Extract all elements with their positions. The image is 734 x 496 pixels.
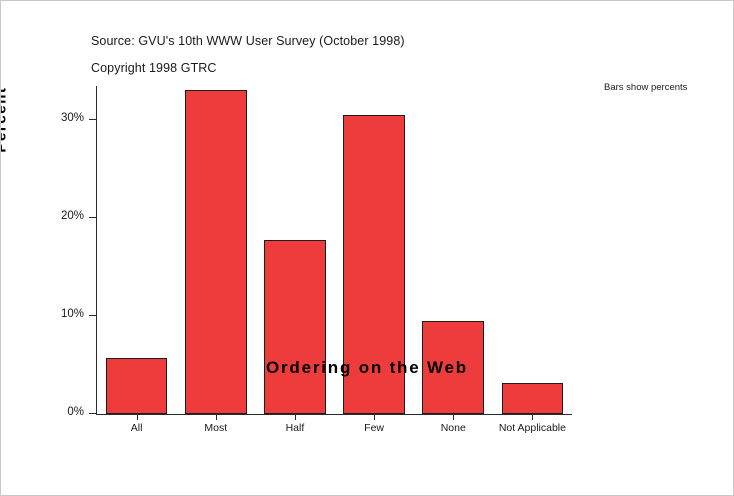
x-axis-tick-label: Few (364, 422, 384, 434)
y-axis-tick: 20% (89, 217, 97, 218)
y-axis-tick: 30% (89, 119, 97, 120)
x-axis-tick-label: All (131, 422, 143, 434)
x-axis-tick-label: Most (204, 422, 227, 434)
y-axis-tick-label: 0% (67, 406, 84, 418)
y-axis-tick-label: 10% (61, 308, 84, 320)
y-axis-tick-label: 20% (61, 210, 84, 222)
x-axis-tick-label: Half (286, 422, 305, 434)
x-axis-tick (137, 414, 138, 420)
y-axis-tick-label: 30% (61, 112, 84, 124)
x-axis-tick (374, 414, 375, 420)
source-note: Source: GVU's 10th WWW User Survey (Octo… (91, 34, 405, 48)
bar-half[interactable] (264, 240, 326, 414)
x-axis-tick (216, 414, 217, 420)
y-axis-title: Percent (0, 40, 10, 200)
chart-page: Source: GVU's 10th WWW User Survey (Octo… (0, 0, 734, 496)
x-axis-tick (295, 414, 296, 420)
x-axis-tick-label: None (441, 422, 466, 434)
x-axis-tick (453, 414, 454, 420)
legend-note: Bars show percents (604, 82, 687, 93)
x-axis-tick-label: Not Applicable (499, 422, 566, 434)
x-axis-title: Ordering on the Web (1, 358, 733, 378)
y-axis-tick: 10% (89, 315, 97, 316)
y-axis-tick: 0% (89, 413, 97, 414)
copyright-note: Copyright 1998 GTRC (91, 61, 217, 75)
x-axis-tick (532, 414, 533, 420)
bar-not-applicable[interactable] (502, 383, 564, 414)
